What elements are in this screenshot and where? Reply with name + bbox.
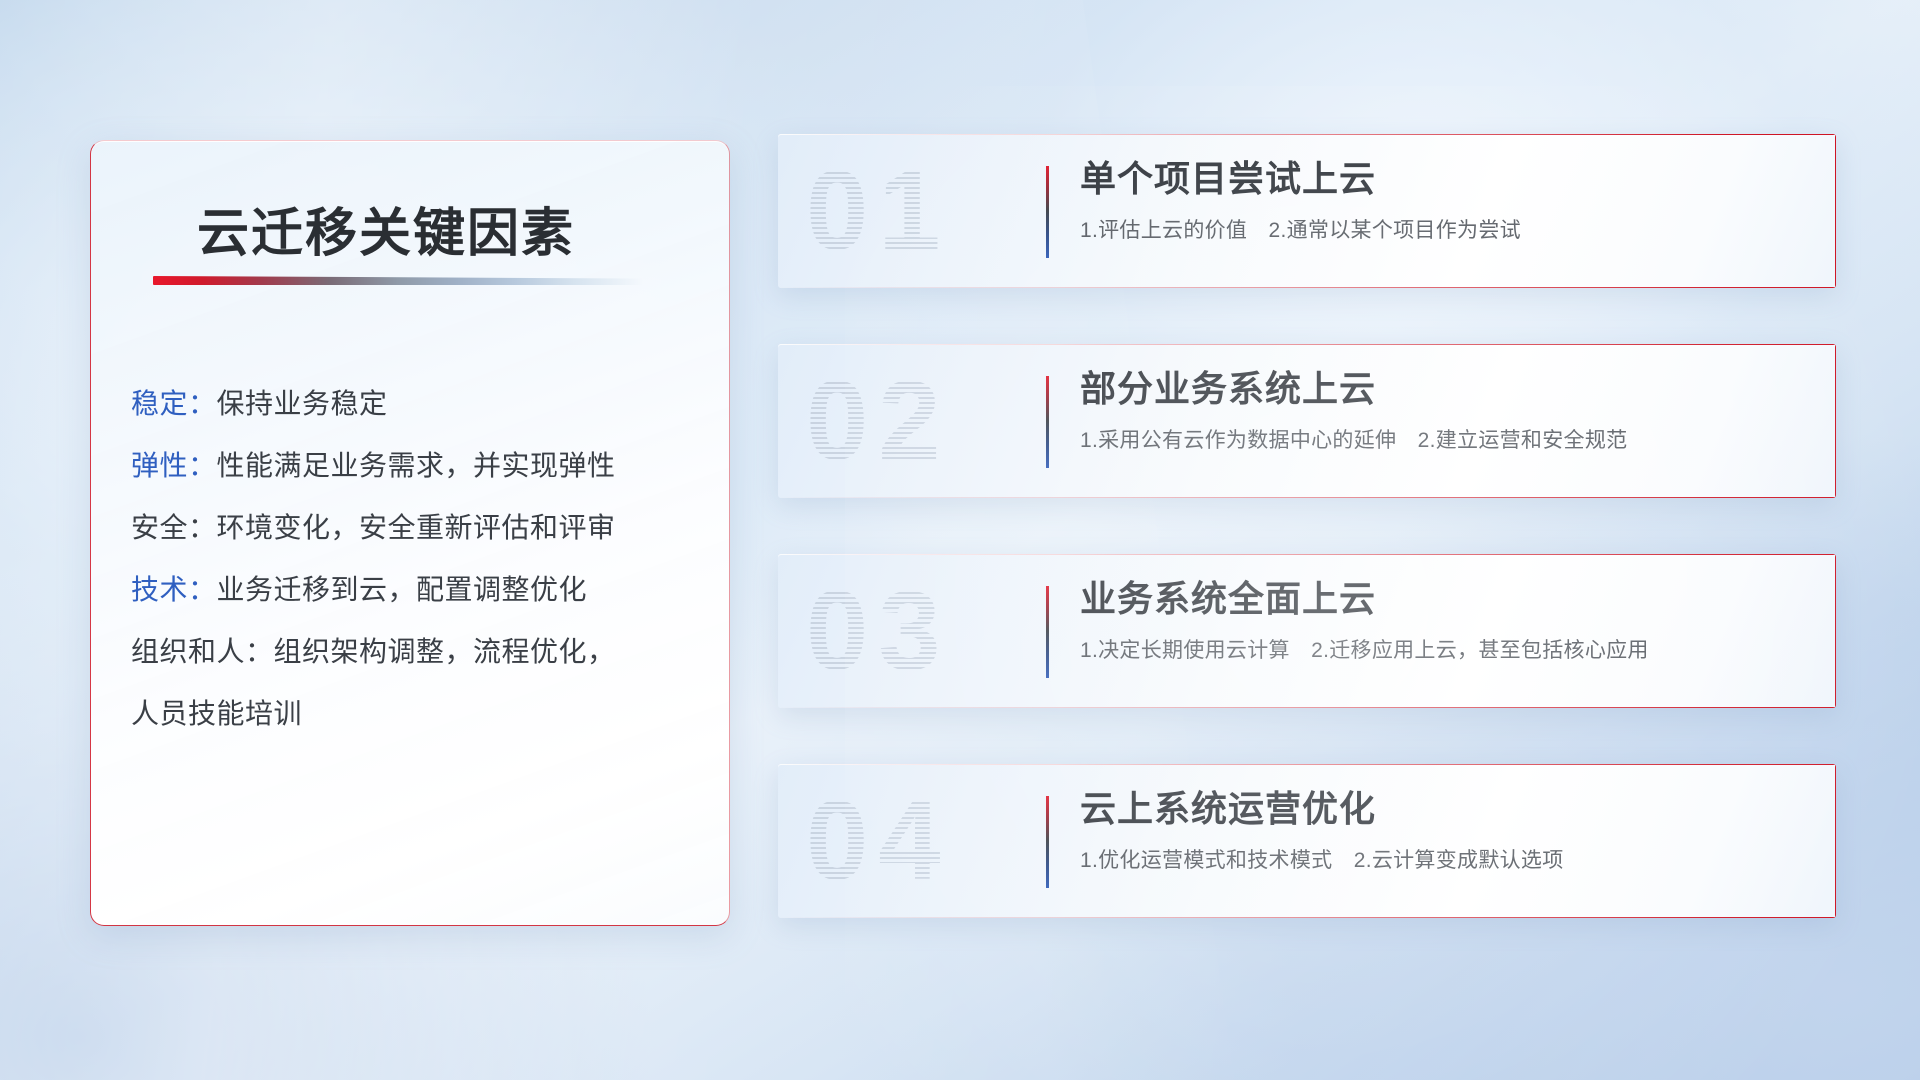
factor-row: 弹性：性能满足业务需求，并实现弹性 bbox=[131, 435, 707, 497]
step-card-body: 部分业务系统上云1.采用公有云作为数据中心的延伸 2.建立运营和安全规范 bbox=[1080, 366, 1812, 454]
step-title: 云上系统运营优化 bbox=[1080, 786, 1812, 832]
factor-row: 稳定：保持业务稳定 bbox=[131, 373, 707, 435]
factor-row: 技术：业务迁移到云，配置调整优化 bbox=[131, 559, 707, 621]
factor-text: 组织架构调整，流程优化， bbox=[274, 636, 616, 667]
title-underline-rule bbox=[153, 276, 643, 285]
factor-row: 组织和人：组织架构调整，流程优化， bbox=[131, 621, 707, 683]
step-number: 03 bbox=[806, 568, 1056, 694]
factor-label: 组织和人： bbox=[131, 636, 274, 667]
factor-text: 业务迁移到云，配置调整优化 bbox=[217, 574, 588, 605]
step-description: 1.采用公有云作为数据中心的延伸 2.建立运营和安全规范 bbox=[1080, 424, 1812, 454]
step-card[interactable]: 04云上系统运营优化1.优化运营模式和技术模式 2.云计算变成默认选项 bbox=[778, 764, 1836, 918]
step-card-body: 业务系统全面上云1.决定长期使用云计算 2.迁移应用上云，甚至包括核心应用 bbox=[1080, 576, 1812, 664]
factor-label: 技术： bbox=[131, 574, 217, 605]
step-card-body: 云上系统运营优化1.优化运营模式和技术模式 2.云计算变成默认选项 bbox=[1080, 786, 1812, 874]
step-title: 部分业务系统上云 bbox=[1080, 366, 1812, 412]
factor-row: 安全：环境变化，安全重新评估和评审 bbox=[131, 497, 707, 559]
step-title: 单个项目尝试上云 bbox=[1080, 156, 1812, 202]
factor-label: 稳定： bbox=[131, 388, 217, 419]
slide-canvas: 云迁移关键因素 稳定：保持业务稳定弹性：性能满足业务需求，并实现弹性安全：环境变… bbox=[0, 0, 1920, 1080]
accent-divider-bar bbox=[1046, 376, 1049, 468]
factor-text: 环境变化，安全重新评估和评审 bbox=[217, 512, 616, 543]
accent-divider-bar bbox=[1046, 586, 1049, 678]
step-card-list: 01单个项目尝试上云1.评估上云的价值 2.通常以某个项目作为尝试02部分业务系… bbox=[778, 134, 1836, 974]
factor-text: 保持业务稳定 bbox=[217, 388, 388, 419]
step-number: 02 bbox=[806, 358, 1056, 484]
factor-text: 性能满足业务需求，并实现弹性 bbox=[217, 450, 616, 481]
step-card-body: 单个项目尝试上云1.评估上云的价值 2.通常以某个项目作为尝试 bbox=[1080, 156, 1812, 244]
step-number: 01 bbox=[806, 148, 1056, 274]
step-number: 04 bbox=[806, 778, 1056, 904]
factor-row: 人员技能培训 bbox=[131, 683, 707, 745]
step-description: 1.评估上云的价值 2.通常以某个项目作为尝试 bbox=[1080, 214, 1812, 244]
step-card[interactable]: 01单个项目尝试上云1.评估上云的价值 2.通常以某个项目作为尝试 bbox=[778, 134, 1836, 288]
accent-divider-bar bbox=[1046, 796, 1049, 888]
factor-label: 弹性： bbox=[131, 450, 217, 481]
step-card[interactable]: 03业务系统全面上云1.决定长期使用云计算 2.迁移应用上云，甚至包括核心应用 bbox=[778, 554, 1836, 708]
factor-text: 人员技能培训 bbox=[131, 698, 302, 729]
key-factors-panel: 云迁移关键因素 稳定：保持业务稳定弹性：性能满足业务需求，并实现弹性安全：环境变… bbox=[90, 140, 730, 926]
step-description: 1.优化运营模式和技术模式 2.云计算变成默认选项 bbox=[1080, 844, 1812, 874]
step-title: 业务系统全面上云 bbox=[1080, 576, 1812, 622]
step-description: 1.决定长期使用云计算 2.迁移应用上云，甚至包括核心应用 bbox=[1080, 634, 1812, 664]
step-card[interactable]: 02部分业务系统上云1.采用公有云作为数据中心的延伸 2.建立运营和安全规范 bbox=[778, 344, 1836, 498]
page-title: 云迁移关键因素 bbox=[197, 191, 575, 266]
factor-label: 安全： bbox=[131, 512, 217, 543]
factor-list: 稳定：保持业务稳定弹性：性能满足业务需求，并实现弹性安全：环境变化，安全重新评估… bbox=[131, 373, 707, 745]
accent-divider-bar bbox=[1046, 166, 1049, 258]
